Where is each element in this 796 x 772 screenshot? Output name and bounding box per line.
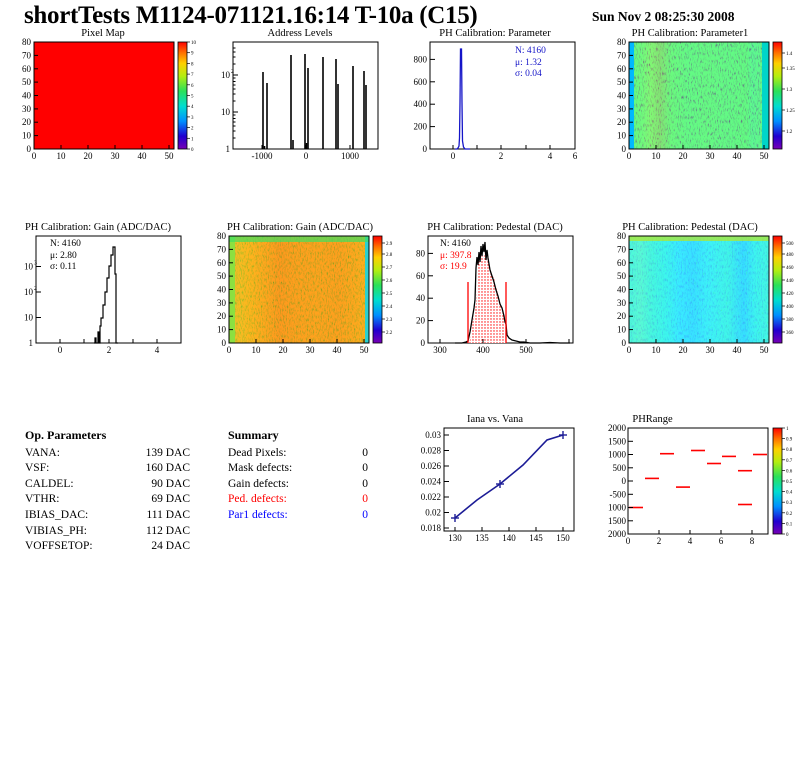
svg-text:1: 1 [786,427,789,432]
svg-text:1: 1 [191,137,194,142]
summary-value: 0 [338,492,368,508]
ph-parameter-stats: N: 4160 μ: 1.32 σ: 0.04 [515,46,546,81]
panel-title: PH Calibration: Parameter1 [595,28,785,39]
svg-text:10: 10 [191,41,197,46]
svg-text:0: 0 [622,476,627,486]
panel-title: PHRange [555,414,750,425]
stat-mu: μ: 1.32 [515,58,546,70]
summary-key: Mask defects: [228,461,292,477]
panel-gain-map: PH Calibration: Gain (ADC/DAC) [205,222,395,357]
svg-text:150: 150 [556,533,570,543]
svg-text:30: 30 [306,345,316,355]
svg-text:20: 20 [217,311,227,321]
svg-text:2.3: 2.3 [386,318,393,323]
svg-text:10: 10 [217,325,227,335]
svg-text:1.35: 1.35 [786,67,795,72]
svg-text:10: 10 [617,131,627,141]
svg-text:5: 5 [191,95,194,100]
svg-text:50: 50 [165,151,175,161]
svg-text:40: 40 [617,285,627,295]
stat-sigma: σ: 0.04 [515,69,546,81]
svg-text:1.3: 1.3 [786,88,793,93]
svg-text:80: 80 [416,248,426,258]
svg-text:4: 4 [155,345,160,355]
panel-title: Address Levels [205,28,395,39]
svg-text:50: 50 [617,77,627,87]
table-row: Gain defects: 0 [228,477,388,493]
gain-hist-plot: 02 4 1 10 102 103 [8,222,198,357]
phrange-plot: 02 46 8 20001500 1000500 0-500 10001500 … [600,412,795,557]
svg-text:400: 400 [476,345,490,355]
svg-text:0: 0 [222,338,227,348]
svg-text:500: 500 [786,242,794,247]
report-page: shortTests M1124-071121.16:14 T-10a (C15… [0,0,796,772]
svg-text:20: 20 [679,345,689,355]
svg-text:9: 9 [191,52,194,57]
svg-text:20: 20 [679,151,689,161]
param-key: CALDEL: [25,477,74,493]
svg-text:60: 60 [22,64,32,74]
svg-text:30: 30 [22,104,32,114]
svg-text:500: 500 [519,345,533,355]
svg-text:500: 500 [613,463,627,473]
svg-text:6: 6 [573,151,578,161]
svg-text:0.5: 0.5 [786,480,793,485]
svg-text:800: 800 [414,54,428,64]
svg-text:-500: -500 [610,489,627,499]
svg-text:0: 0 [786,533,789,538]
svg-text:145: 145 [529,533,543,543]
svg-text:40: 40 [22,91,32,101]
svg-text:30: 30 [617,104,627,114]
svg-text:70: 70 [617,244,627,254]
table-row: VOFFSETOP: 24 DAC [25,539,195,555]
svg-text:140: 140 [502,533,516,543]
svg-text:130: 130 [448,533,462,543]
svg-text:1.2: 1.2 [786,130,793,135]
svg-text:1: 1 [29,338,34,348]
svg-text:0: 0 [626,536,631,546]
panel-phrange: PHRange [600,412,795,557]
table-row: CALDEL: 90 DAC [25,477,195,493]
svg-text:4: 4 [548,151,553,161]
svg-text:1000: 1000 [341,151,360,161]
panel-pedestal-map: PH Calibration: Pedestal (DAC) [605,222,795,357]
stat-mu: μ: 397.8 [440,251,471,263]
table-row: VTHR: 69 DAC [25,492,195,508]
summary-value: 0 [338,508,368,524]
svg-text:20: 20 [279,345,289,355]
svg-text:0.026: 0.026 [421,461,442,471]
gain-hist-stats: N: 4160 μ: 2.80 σ: 0.11 [50,239,81,274]
svg-text:2: 2 [107,345,112,355]
summary-key: Gain defects: [228,477,289,493]
svg-text:70: 70 [617,50,627,60]
table-row: VANA: 139 DAC [25,446,195,462]
svg-text:0: 0 [27,144,32,154]
svg-text:7: 7 [191,73,194,78]
svg-text:20: 20 [84,151,94,161]
param-key: VOFFSETOP: [25,539,93,555]
svg-text:4: 4 [191,105,194,110]
svg-text:0: 0 [627,151,632,161]
op-parameters-heading: Op. Parameters [25,428,195,444]
panel-title: Pixel Map [8,28,198,39]
svg-text:460: 460 [786,266,794,271]
svg-text:0.7: 0.7 [786,459,793,464]
table-row: VSF: 160 DAC [25,461,195,477]
svg-text:50: 50 [760,151,770,161]
svg-text:0.6: 0.6 [786,469,793,474]
svg-text:0: 0 [58,345,63,355]
param-key: VIBIAS_PH: [25,524,87,540]
svg-text:10: 10 [22,131,32,141]
svg-text:1500: 1500 [608,516,627,526]
panel-pedestal-hist: PH Calibration: Pedestal (DAC) [400,222,590,357]
pedestal-heatmap: 010 2030 4050 010 2030 4050 6070 80 [605,222,795,357]
ph-parameter1-heatmap: 010 2030 4050 010 2030 4050 6070 80 [605,28,795,163]
svg-text:20: 20 [617,117,627,127]
svg-text:200: 200 [414,122,428,132]
stat-n: N: 4160 [440,239,471,251]
page-title: shortTests M1124-071121.16:14 T-10a (C15… [24,2,477,30]
svg-text:0.2: 0.2 [786,512,793,517]
svg-text:2.6: 2.6 [386,279,393,284]
summary-table: Summary Dead Pixels: 0 Mask defects: 0 G… [228,428,388,524]
param-value: 69 DAC [120,492,190,508]
svg-text:30: 30 [617,298,627,308]
svg-text:440: 440 [786,279,794,284]
svg-text:10: 10 [24,262,34,272]
svg-text:10: 10 [617,325,627,335]
svg-text:480: 480 [786,253,794,258]
panel-ph-parameter1-map: PH Calibration: Parameter1 [605,28,795,163]
svg-text:0.02: 0.02 [425,508,441,518]
svg-text:0: 0 [627,345,632,355]
svg-text:6: 6 [719,536,724,546]
svg-text:50: 50 [22,77,32,87]
table-row: Dead Pixels: 0 [228,446,388,462]
param-value: 112 DAC [120,524,190,540]
stat-sigma: σ: 19.9 [440,262,471,274]
panel-ph-parameter: PH Calibration: Parameter 02 46 0200 [400,28,590,163]
svg-text:0.3: 0.3 [786,501,793,506]
svg-text:2.9: 2.9 [386,242,393,247]
svg-text:-1000: -1000 [252,151,273,161]
param-value: 160 DAC [120,461,190,477]
svg-text:2: 2 [191,127,194,132]
svg-text:1.4: 1.4 [786,52,793,57]
summary-key: Ped. defects: [228,492,287,508]
svg-text:10: 10 [24,313,34,323]
svg-text:2: 2 [34,286,37,292]
svg-text:40: 40 [217,285,227,295]
stat-n: N: 4160 [515,46,546,58]
date-stamp: Sun Nov 2 08:25:30 2008 [592,9,735,25]
svg-text:400: 400 [786,305,794,310]
table-row: VIBIAS_PH: 112 DAC [25,524,195,540]
op-parameters-table: Op. Parameters VANA: 139 DAC VSF: 160 DA… [25,428,195,555]
svg-text:1000: 1000 [608,450,627,460]
stat-mu: μ: 2.80 [50,251,81,263]
svg-text:2.5: 2.5 [386,292,393,297]
svg-text:40: 40 [138,151,148,161]
svg-text:10: 10 [252,345,262,355]
summary-key: Par1 defects: [228,508,288,524]
svg-text:0: 0 [421,338,426,348]
svg-text:1.25: 1.25 [786,109,795,114]
pedestal-hist-plot: 300400 500 020 4060 80 [400,222,590,357]
iana-vs-vana-plot: 130135 140145 150 0.0180.02 0.0220.024 0… [400,412,590,552]
svg-text:10: 10 [652,345,662,355]
svg-text:0.028: 0.028 [421,446,442,456]
svg-text:60: 60 [217,258,227,268]
svg-text:10: 10 [652,151,662,161]
svg-text:10: 10 [57,151,67,161]
svg-text:0.018: 0.018 [421,523,442,533]
summary-value: 0 [338,477,368,493]
stat-n: N: 4160 [50,239,81,251]
svg-text:70: 70 [217,244,227,254]
param-value: 111 DAC [120,508,190,524]
svg-text:30: 30 [706,151,716,161]
address-levels-plot: -1000 0 1000 1 10 102 [205,28,395,163]
svg-text:380: 380 [786,318,794,323]
svg-text:10: 10 [221,107,231,117]
svg-text:1000: 1000 [608,503,627,513]
summary-value: 0 [338,461,368,477]
param-value: 139 DAC [120,446,190,462]
svg-text:8: 8 [750,536,755,546]
pedestal-hist-stats: N: 4160 μ: 397.8 σ: 19.9 [440,239,471,274]
svg-text:6: 6 [191,84,194,89]
table-row: Par1 defects: 0 [228,508,388,524]
svg-text:0.8: 0.8 [786,448,793,453]
svg-text:0.022: 0.022 [421,492,441,502]
svg-text:60: 60 [617,64,627,74]
svg-text:10: 10 [24,287,34,297]
panel-iana-vs-vana: Iana vs. Vana 130135 140145 150 [400,412,590,552]
panel-title: PH Calibration: Gain (ADC/DAC) [205,222,395,233]
summary-key: Dead Pixels: [228,446,286,462]
svg-text:600: 600 [414,77,428,87]
svg-text:0: 0 [451,151,456,161]
svg-text:30: 30 [111,151,121,161]
svg-text:0.024: 0.024 [421,477,442,487]
param-key: VANA: [25,446,60,462]
svg-text:3: 3 [34,261,37,267]
svg-text:40: 40 [733,151,743,161]
table-row: Ped. defects: 0 [228,492,388,508]
svg-text:0: 0 [423,144,428,154]
panel-title: PH Calibration: Gain (ADC/DAC) [3,222,193,233]
svg-text:50: 50 [760,345,770,355]
svg-text:1: 1 [226,144,231,154]
svg-text:10: 10 [221,70,231,80]
svg-text:0.4: 0.4 [786,491,793,496]
table-row: Mask defects: 0 [228,461,388,477]
svg-text:2.7: 2.7 [386,266,393,271]
svg-text:0: 0 [32,151,37,161]
svg-text:4: 4 [688,536,693,546]
panel-title: PH Calibration: Pedestal (DAC) [595,222,785,233]
svg-text:0: 0 [191,148,194,153]
svg-text:300: 300 [433,345,447,355]
svg-text:1500: 1500 [608,436,627,446]
param-value: 24 DAC [120,539,190,555]
svg-text:50: 50 [360,345,370,355]
svg-text:20: 20 [22,117,32,127]
svg-text:420: 420 [786,292,794,297]
svg-text:60: 60 [617,258,627,268]
svg-text:2: 2 [231,69,234,75]
svg-text:40: 40 [333,345,343,355]
svg-text:135: 135 [475,533,489,543]
svg-text:40: 40 [617,91,627,101]
svg-text:2: 2 [499,151,504,161]
svg-text:2.8: 2.8 [386,253,393,258]
svg-text:0: 0 [622,144,627,154]
panel-gain-hist: PH Calibration: Gain (ADC/DAC) 02 4 1 [8,222,198,357]
svg-text:8: 8 [191,62,194,67]
ph-parameter-plot: 02 46 0200 400600 800 [400,28,590,163]
svg-text:40: 40 [733,345,743,355]
svg-text:30: 30 [217,298,227,308]
svg-text:20: 20 [416,316,426,326]
param-key: IBIAS_DAC: [25,508,88,524]
svg-text:60: 60 [416,271,426,281]
svg-text:0: 0 [304,151,309,161]
svg-text:70: 70 [22,50,32,60]
svg-text:2.4: 2.4 [386,305,393,310]
svg-text:20: 20 [617,311,627,321]
svg-text:400: 400 [414,99,428,109]
svg-text:360: 360 [786,331,794,336]
svg-text:0: 0 [622,338,627,348]
table-row: IBIAS_DAC: 111 DAC [25,508,195,524]
param-key: VTHR: [25,492,60,508]
panel-address-levels: Address Levels [205,28,395,163]
svg-text:0: 0 [227,345,232,355]
svg-text:2.2: 2.2 [386,331,393,336]
summary-value: 0 [338,446,368,462]
panel-title: PH Calibration: Pedestal (DAC) [400,222,590,233]
svg-text:0.9: 0.9 [786,438,793,443]
gain-heatmap: 010 2030 4050 010 2030 4050 6070 80 [205,222,395,357]
param-key: VSF: [25,461,49,477]
svg-text:0.03: 0.03 [425,430,441,440]
panel-title: PH Calibration: Parameter [400,28,590,39]
svg-text:2000: 2000 [608,529,627,539]
summary-heading: Summary [228,428,388,444]
svg-text:50: 50 [617,271,627,281]
svg-text:50: 50 [217,271,227,281]
svg-text:30: 30 [706,345,716,355]
panel-pixel-map: Pixel Map 010 2030 4050 [8,28,198,163]
stat-sigma: σ: 0.11 [50,262,81,274]
param-value: 90 DAC [120,477,190,493]
svg-text:0.1: 0.1 [786,522,793,527]
svg-text:3: 3 [191,116,194,121]
svg-text:2: 2 [657,536,662,546]
pixel-map-plot: 010 2030 4050 010 2030 4050 6070 80 [8,28,198,163]
svg-text:40: 40 [416,293,426,303]
